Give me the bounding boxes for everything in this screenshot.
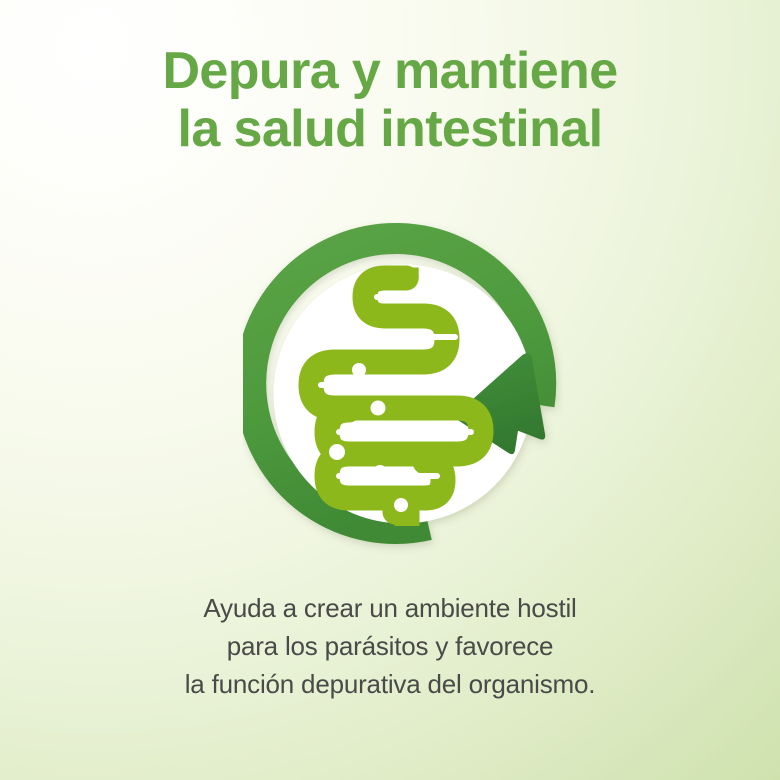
intestine-dot: [329, 444, 345, 460]
intestine-dot: [373, 465, 387, 479]
heading: Depura y mantiene la salud intestinal: [0, 42, 780, 158]
heading-line-2: la salud intestinal: [0, 100, 780, 158]
heading-line-1: Depura y mantiene: [0, 42, 780, 100]
intestine-dot: [413, 423, 428, 438]
intestinal-cycle-icon-svg: [243, 222, 563, 562]
icon-badge-group: [251, 239, 545, 529]
intestine-dot: [438, 423, 452, 437]
caption-line-2: para los parásitos y favorece: [0, 627, 780, 665]
intestinal-cycle-icon: [243, 222, 563, 562]
caption-line-3: la función depurativa del organismo.: [0, 665, 780, 703]
promo-poster: Depura y mantiene la salud intestinal: [0, 0, 780, 780]
caption-line-1: Ayuda a crear un ambiente hostil: [0, 589, 780, 627]
intestine-dot: [371, 401, 386, 416]
intestine-dot: [394, 498, 408, 512]
intestine-dot: [352, 363, 366, 377]
caption: Ayuda a crear un ambiente hostil para lo…: [0, 589, 780, 703]
